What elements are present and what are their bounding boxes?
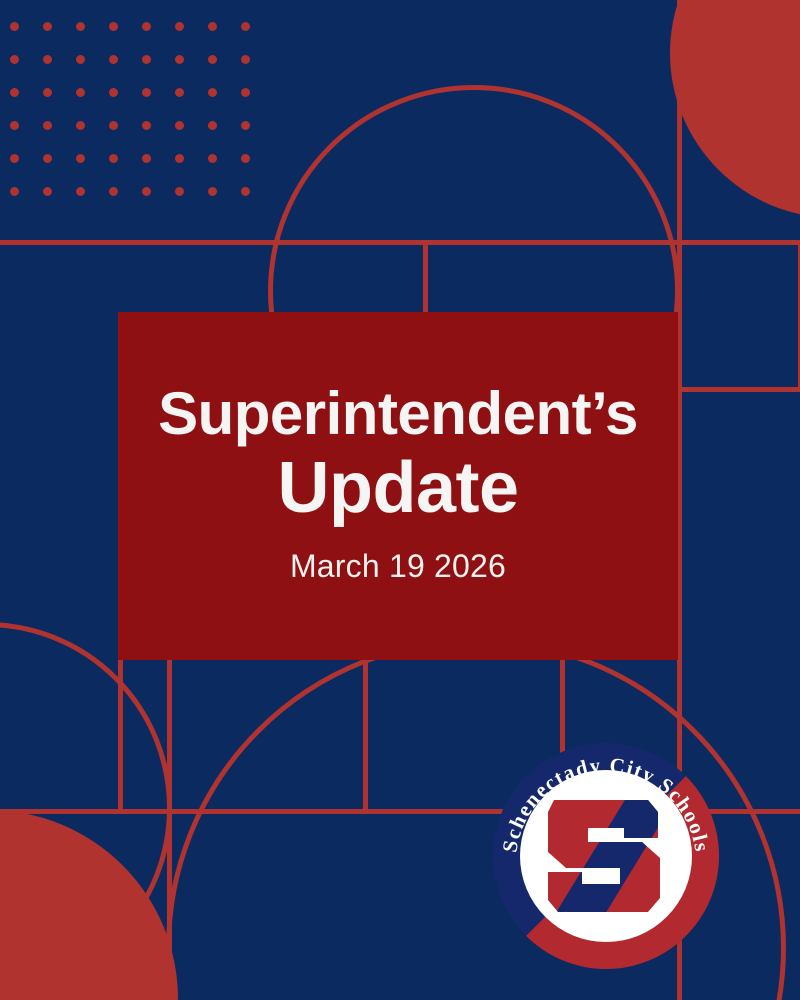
decor-dot (10, 55, 19, 64)
decor-dot (43, 88, 52, 97)
decor-dot (76, 55, 85, 64)
page-date: March 19 2026 (290, 549, 506, 584)
decor-dot (142, 22, 151, 31)
decor-dot (175, 187, 184, 196)
decor-dot (76, 154, 85, 163)
decor-dot (241, 55, 250, 64)
decor-dot (142, 187, 151, 196)
decor-dot (109, 121, 118, 130)
decor-dot (241, 121, 250, 130)
decor-dot (142, 55, 151, 64)
decor-dot (109, 88, 118, 97)
decor-rect-outline-lower-left (118, 640, 368, 812)
decor-dot (76, 121, 85, 130)
decor-dot (109, 22, 118, 31)
decor-dot (241, 154, 250, 163)
decor-dot (10, 154, 19, 163)
decor-dot (175, 22, 184, 31)
decor-dot (76, 22, 85, 31)
decor-dot (142, 154, 151, 163)
decor-solid-circle-top-right (670, 0, 800, 218)
schenectady-city-schools-logo: Schenectady City Schools Est. 1854 (492, 742, 720, 970)
decor-dot (109, 187, 118, 196)
decor-dot (43, 187, 52, 196)
decor-dot (241, 88, 250, 97)
decor-dot (208, 22, 217, 31)
decor-dot (142, 88, 151, 97)
decor-dot (43, 154, 52, 163)
decor-dot (175, 121, 184, 130)
decor-dot (76, 187, 85, 196)
headline-card: Superintendent’s Update March 19 2026 (118, 312, 678, 660)
decor-dot (43, 55, 52, 64)
decor-dot (10, 22, 19, 31)
decor-dot (208, 187, 217, 196)
decor-dot (175, 88, 184, 97)
page-title-line-2: Update (277, 451, 518, 527)
decor-dot (208, 154, 217, 163)
decor-dot (43, 121, 52, 130)
decor-dot (208, 55, 217, 64)
decor-dot (175, 154, 184, 163)
decor-dot (10, 88, 19, 97)
decor-dot (109, 154, 118, 163)
page-title-line-1: Superintendent’s (158, 382, 638, 445)
decor-dot (241, 22, 250, 31)
decor-dot (76, 88, 85, 97)
decor-dot (208, 121, 217, 130)
decor-dot (43, 22, 52, 31)
decor-dot-grid (10, 22, 260, 202)
decor-dot (241, 187, 250, 196)
decor-dot (10, 187, 19, 196)
decor-dot (142, 121, 151, 130)
poster-canvas: Superintendent’s Update March 19 2026 (0, 0, 800, 1000)
decor-dot (109, 55, 118, 64)
decor-dot (10, 121, 19, 130)
decor-dot (208, 88, 217, 97)
decor-dot (175, 55, 184, 64)
